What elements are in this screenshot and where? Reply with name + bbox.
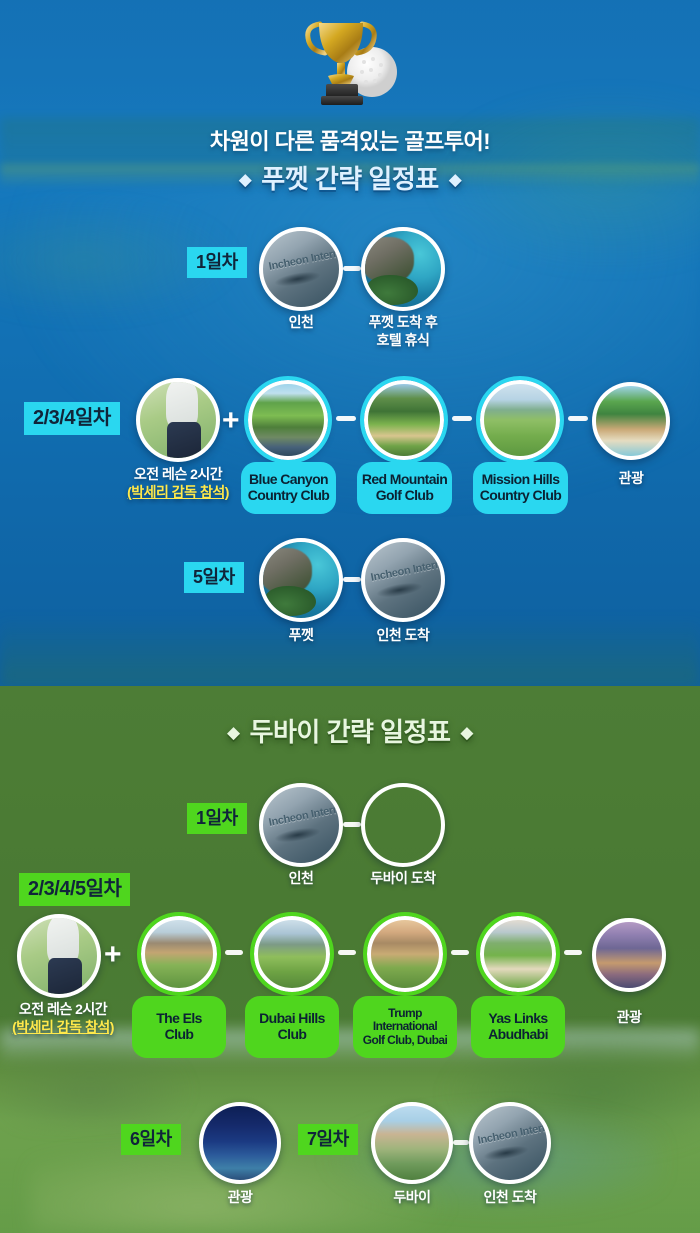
phuket-section-title: ◆푸껫 간략 일정표◆	[0, 159, 700, 196]
dubai-day-badge-1: 1일차	[187, 803, 247, 834]
dubai-course-pill-yas-links: Yas LinksAbudhabi	[471, 996, 565, 1058]
dubai-course-circle-dubai-hills	[254, 916, 330, 992]
dubai-course-circle-the-els	[141, 916, 217, 992]
course-name-line-2: Country Club	[480, 487, 561, 503]
phuket-tour-caption: 관광	[592, 470, 670, 488]
dubai-tour-circle	[592, 918, 666, 992]
phuket-return-caption-phuket: 푸껫	[261, 627, 341, 645]
dubai-day-badge-7: 7일차	[298, 1124, 358, 1155]
golf-tour-itinerary-infographic: 차원이 다른 품격있는 골프투어! ◆푸껫 간략 일정표◆ 1일차 인천 푸껫 …	[0, 0, 700, 1233]
course-name-line-2: Club	[165, 1026, 194, 1042]
phuket-course-circle-red-mountain	[364, 380, 444, 460]
course-name-line-1: Yas Links	[488, 1010, 547, 1026]
phuket-return-circle-phuket	[259, 538, 343, 622]
dubai-day6-circle-tour	[199, 1102, 281, 1184]
phuket-day-badge-5: 5일차	[184, 562, 244, 593]
dubai-course-circle-yas-links	[480, 916, 556, 992]
phuket-day-badge-234: 2/3/4일차	[24, 402, 120, 435]
dubai-tour-caption: 관광	[590, 1009, 668, 1027]
course-name-line-2: International	[373, 1019, 437, 1033]
dubai-course-pill-the-els: The ElsClub	[132, 996, 226, 1058]
caption-line-2: 호텔 휴식	[377, 332, 430, 348]
phuket-day-badge-1: 1일차	[187, 247, 247, 278]
diamond-left-icon: ◆	[217, 723, 250, 743]
dubai-title-text: 두바이 간략 일정표	[250, 717, 451, 747]
dubai-day6-caption: 관광	[200, 1189, 280, 1207]
lesson-line-2-highlight: (박세리 감독 참석)	[118, 484, 238, 502]
phuket-stop-caption-arrival: 푸껫 도착 후 호텔 휴식	[355, 314, 451, 349]
dubai-lesson-circle	[17, 914, 101, 998]
connector-line	[225, 950, 243, 955]
course-name-line-2: Country Club	[248, 487, 329, 503]
dubai-section-title: ◆두바이 간략 일정표◆	[0, 712, 700, 749]
phuket-return-circle-incheon	[361, 538, 445, 622]
phuket-course-circle-blue-canyon	[248, 380, 328, 460]
dubai-course-pill-trump: TrumpInternationalGolf Club, Dubai	[353, 996, 457, 1058]
connector-line	[568, 416, 588, 421]
connector-line	[451, 950, 469, 955]
trophy-golfball-icon	[290, 10, 410, 110]
lesson-line-2-highlight: (박세리 감독 참석)	[0, 1019, 126, 1037]
course-name-line-1: Dubai Hills	[259, 1010, 325, 1026]
dubai-stop-caption-arrival: 두바이 도착	[349, 870, 457, 888]
phuket-course-circle-mission-hills	[480, 380, 560, 460]
phuket-course-pill-red-mountain: Red MountainGolf Club	[357, 462, 452, 514]
dubai-lesson-caption: 오전 레슨 2시간 (박세리 감독 참석)	[0, 1001, 126, 1036]
diamond-left-icon: ◆	[229, 170, 262, 190]
phuket-return-caption-incheon: 인천 도착	[355, 627, 451, 645]
phuket-stop-circle-incheon	[259, 227, 343, 311]
diamond-right-icon: ◆	[439, 170, 472, 190]
phuket-lesson-caption: 오전 레슨 2시간 (박세리 감독 참석)	[118, 466, 238, 501]
connector-line	[452, 416, 472, 421]
connector-line	[453, 1140, 469, 1145]
connector-line	[338, 950, 356, 955]
dubai-day7-caption-dubai: 두바이	[372, 1189, 452, 1207]
phuket-course-pill-blue-canyon: Blue CanyonCountry Club	[241, 462, 336, 514]
trophy-header	[0, 10, 700, 112]
plus-icon: +	[222, 406, 240, 436]
phuket-stop-caption-incheon: 인천	[261, 314, 341, 332]
lesson-line-1: 오전 레슨 2시간	[19, 1001, 107, 1017]
connector-line	[343, 822, 361, 827]
lesson-line-1: 오전 레슨 2시간	[134, 466, 222, 482]
dubai-stop-circle-incheon	[259, 783, 343, 867]
course-name-line-2: Golf Club	[376, 487, 434, 503]
course-name-line-2: Club	[278, 1026, 307, 1042]
connector-line	[343, 577, 361, 582]
phuket-course-pill-mission-hills: Mission HillsCountry Club	[473, 462, 568, 514]
dubai-day-badge-2345: 2/3/4/5일차	[19, 873, 130, 906]
phuket-title-text: 푸껫 간략 일정표	[261, 164, 438, 194]
dubai-stop-caption-incheon: 인천	[261, 870, 341, 888]
connector-line	[343, 266, 361, 271]
course-name-line-2: Abudhabi	[488, 1026, 548, 1042]
connector-line	[336, 416, 356, 421]
dubai-day7-caption-incheon: 인천 도착	[458, 1189, 562, 1207]
course-name-line-1: The Els	[156, 1010, 202, 1026]
phuket-tour-circle	[592, 382, 670, 460]
tour-tagline: 차원이 다른 품격있는 골프투어!	[0, 124, 700, 156]
caption-line-1: 푸껫 도착 후	[369, 314, 438, 330]
dubai-day7-circle-dubai	[371, 1102, 453, 1184]
dubai-day-badge-6: 6일차	[121, 1124, 181, 1155]
course-name-line-3: Golf Club, Dubai	[363, 1033, 447, 1047]
course-name-line-1: Trump	[388, 1006, 422, 1020]
dubai-stop-circle-arrival	[361, 783, 445, 867]
dubai-day7-circle-incheon	[469, 1102, 551, 1184]
phuket-lesson-circle	[136, 378, 220, 462]
dubai-course-circle-trump	[367, 916, 443, 992]
dubai-course-pill-dubai-hills: Dubai HillsClub	[245, 996, 339, 1058]
connector-line	[564, 950, 582, 955]
course-name-line-1: Blue Canyon	[249, 471, 328, 487]
diamond-right-icon: ◆	[450, 723, 483, 743]
phuket-stop-circle-arrival	[361, 227, 445, 311]
background-bottom-green	[0, 616, 700, 686]
course-name-line-1: Red Mountain	[362, 471, 447, 487]
course-name-line-1: Mission Hills	[482, 471, 560, 487]
plus-icon: +	[104, 940, 122, 970]
